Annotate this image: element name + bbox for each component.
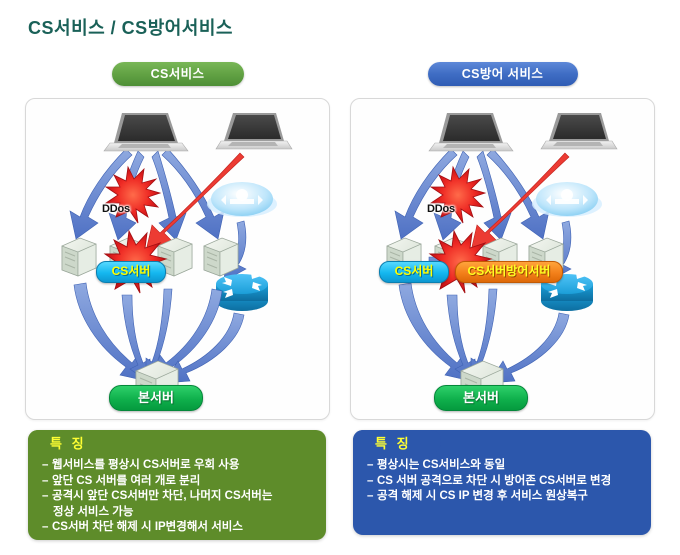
feature-item: –공격 해제 시 CS IP 변경 후 서비스 원상복구 (367, 489, 641, 505)
feature-item: –공격시 앞단 CS서버만 차단, 나머지 CS서버는 (42, 489, 316, 505)
cs-server-badge-right: CS서버 (379, 261, 449, 283)
diagram-cs-service: DDos CS서버 (25, 98, 330, 420)
feature-tab-left: 특 징 (28, 430, 116, 454)
ddos-label-left: DDos (102, 203, 130, 215)
feature-list-left: –웹서비스를 평상시 CS서버로 우회 사용 –앞단 CS 서버를 여러 개로 … (28, 458, 326, 536)
cloud-icon-right (532, 182, 602, 217)
client-laptop-attacker-right (541, 113, 617, 149)
ddos-label-right: DDos (427, 203, 455, 215)
feature-item-text: CS서버 차단 해제 시 IP변경해서 서비스 (52, 521, 243, 533)
feature-item-text: 공격 해제 시 CS IP 변경 후 서비스 원상복구 (377, 490, 588, 502)
cloud-icon-left (207, 182, 277, 217)
feature-item-text: 공격시 앞단 CS서버만 차단, 나머지 CS서버는 (52, 490, 272, 502)
diagram-cs-defense-service: DDos CS서버 CS서버방어서버 (350, 98, 655, 420)
cs-defense-server-badge-right: CS서버방어서버 (455, 261, 563, 283)
router-icon-left (216, 270, 268, 311)
column-cs-defense-service: CS방어 서비스 (350, 62, 655, 420)
feature-item: –평상시는 CS서비스와 동일 (367, 458, 641, 474)
feature-item: –CS 서버 공격으로 차단 시 방어존 CS서버로 변경 (367, 474, 641, 490)
feature-tab-label-left: 특 징 (50, 433, 87, 452)
feature-tab-label-right: 특 징 (375, 433, 412, 452)
feature-item: –앞단 CS 서버를 여러 개로 분리 (42, 474, 316, 490)
feature-box-cs-defense-service: 특 징 –평상시는 CS서비스와 동일 –CS 서버 공격으로 차단 시 방어존… (353, 430, 651, 535)
feature-item-text: 정상 서비스 가능 (53, 506, 133, 518)
feature-item-continuation: 정상 서비스 가능 (42, 505, 316, 521)
column-cs-service: CS서비스 (25, 62, 330, 420)
main-server-badge-right: 본서버 (434, 385, 528, 411)
feature-item-text: CS 서버 공격으로 차단 시 방어존 CS서버로 변경 (377, 475, 611, 487)
cs-server-badge-left: CS서버 (96, 261, 166, 283)
feature-item: –웹서비스를 평상시 CS서버로 우회 사용 (42, 458, 316, 474)
feature-list-right: –평상시는 CS서비스와 동일 –CS 서버 공격으로 차단 시 방어존 CS서… (353, 458, 651, 505)
feature-item: –CS서버 차단 해제 시 IP변경해서 서비스 (42, 520, 316, 536)
feature-item-text: 평상시는 CS서비스와 동일 (377, 459, 505, 471)
feature-item-text: 웹서비스를 평상시 CS서버로 우회 사용 (52, 459, 239, 471)
diagram-graphics-left (26, 99, 329, 417)
diagram-graphics-right (351, 99, 654, 417)
feature-item-text: 앞단 CS 서버를 여러 개로 분리 (52, 475, 200, 487)
section-pill-cs-defense-service: CS방어 서비스 (428, 62, 578, 86)
client-laptop-attacker-left (216, 113, 292, 149)
feature-box-cs-service: 특 징 –웹서비스를 평상시 CS서버로 우회 사용 –앞단 CS 서버를 여러… (28, 430, 326, 540)
feature-tab-right: 특 징 (353, 430, 441, 454)
page-title: CS서비스 / CS방어서비스 (28, 14, 233, 40)
client-laptop-normal-left (104, 113, 188, 151)
section-pill-cs-service: CS서비스 (112, 62, 244, 86)
main-server-badge-left: 본서버 (109, 385, 203, 411)
client-laptop-normal-right (429, 113, 513, 151)
